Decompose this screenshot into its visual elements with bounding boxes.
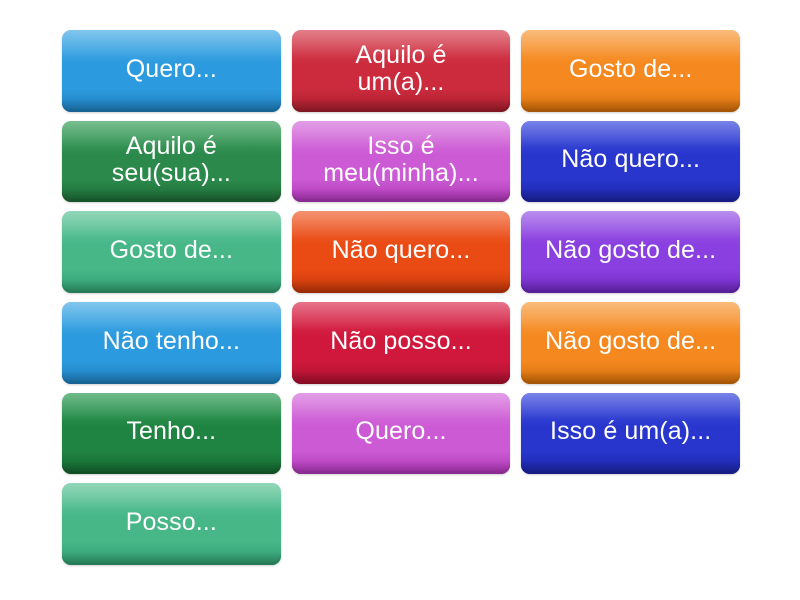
answer-tile[interactable]: Não quero... (292, 211, 511, 293)
answer-tile[interactable]: Aquilo é um(a)... (292, 30, 511, 112)
tile-label: Aquilo é seu(sua)... (112, 133, 231, 187)
tile-label: Quero... (355, 418, 446, 445)
answer-tile[interactable]: Gosto de... (521, 30, 740, 112)
answer-tile[interactable]: Não tenho... (62, 302, 281, 384)
tile-label: Não quero... (332, 237, 471, 264)
answer-tile[interactable]: Quero... (292, 393, 511, 475)
tile-label: Gosto de... (569, 56, 692, 83)
tile-label: Isso é meu(minha)... (323, 133, 479, 187)
answer-tile[interactable]: Não gosto de... (521, 302, 740, 384)
tile-label: Não gosto de... (545, 328, 716, 355)
answer-tile[interactable]: Não quero... (521, 121, 740, 203)
answer-tile[interactable]: Quero... (62, 30, 281, 112)
answer-tile[interactable]: Tenho... (62, 393, 281, 475)
answer-tile[interactable]: Isso é um(a)... (521, 393, 740, 475)
answer-tile[interactable]: Não posso... (292, 302, 511, 384)
tile-label: Quero... (126, 56, 217, 83)
answer-tile[interactable]: Posso... (62, 483, 281, 565)
tile-slot-empty (292, 483, 511, 565)
tile-label: Tenho... (126, 418, 216, 445)
tile-label: Isso é um(a)... (550, 418, 711, 445)
answer-tile[interactable]: Aquilo é seu(sua)... (62, 121, 281, 203)
tile-slot-empty (521, 483, 740, 565)
tile-label: Não posso... (330, 328, 472, 355)
tile-label: Não quero... (561, 146, 700, 173)
answer-tile[interactable]: Isso é meu(minha)... (292, 121, 511, 203)
tile-label: Aquilo é um(a)... (355, 42, 446, 96)
answer-tile[interactable]: Não gosto de... (521, 211, 740, 293)
tile-label: Posso... (126, 509, 217, 536)
tile-label: Gosto de... (110, 237, 233, 264)
answer-tile[interactable]: Gosto de... (62, 211, 281, 293)
tile-grid: Quero...Aquilo é um(a)...Gosto de...Aqui… (0, 0, 800, 600)
tile-label: Não tenho... (103, 328, 240, 355)
tile-label: Não gosto de... (545, 237, 716, 264)
